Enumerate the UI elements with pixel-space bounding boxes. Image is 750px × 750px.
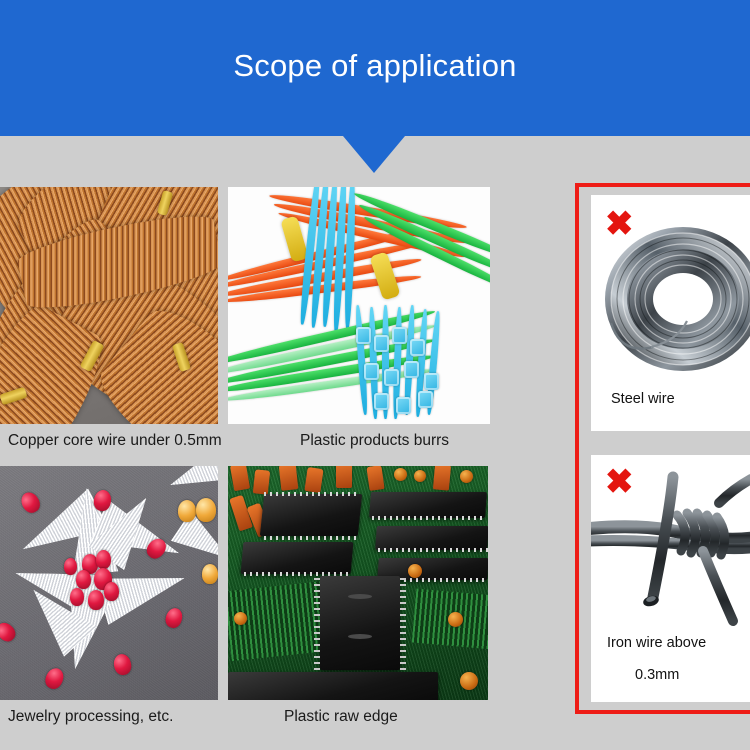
exclusion-caption-steel-wire: Steel wire — [611, 391, 675, 407]
infographic-page: Scope of application Copper core wire un… — [0, 0, 750, 750]
jewelry-photo — [0, 466, 218, 700]
header-banner: Scope of application — [0, 0, 750, 136]
application-caption-jewelry-processing: Jewelry processing, etc. — [8, 708, 173, 726]
application-image-copper-core-wire — [0, 187, 218, 424]
circuit-board-photo — [228, 466, 488, 700]
application-image-plastic-raw-edge — [228, 466, 488, 700]
application-image-plastic-products-burrs — [228, 187, 490, 424]
exclusion-card-iron-wire: ✖ Iron wire above 0.3mm — [591, 455, 750, 702]
cable-ties-photo — [228, 187, 490, 424]
red-cross-icon: ✖ — [605, 465, 634, 499]
exclusion-card-steel-wire: ✖ Steel wire — [591, 195, 750, 431]
page-title: Scope of application — [0, 48, 750, 84]
exclusion-panel: ✖ Steel wire — [575, 183, 750, 714]
down-triangle-icon — [343, 136, 405, 173]
red-cross-icon: ✖ — [605, 207, 634, 241]
application-caption-copper-core-wire: Copper core wire under 0.5mm — [8, 432, 222, 450]
application-image-jewelry-processing — [0, 466, 218, 700]
exclusion-caption-iron-wire-line1: Iron wire above — [607, 635, 706, 651]
application-caption-plastic-raw-edge: Plastic raw edge — [284, 708, 398, 726]
copper-wire-photo — [0, 187, 218, 424]
application-caption-plastic-products-burrs: Plastic products burrs — [300, 432, 449, 450]
exclusion-caption-iron-wire-line2: 0.3mm — [635, 667, 679, 683]
